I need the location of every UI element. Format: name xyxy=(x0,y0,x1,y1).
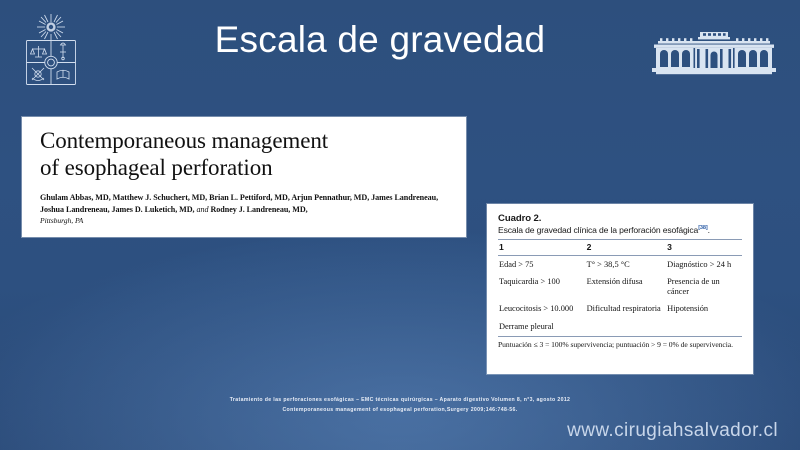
table-caption-text: Escala de gravedad clínica de la perfora… xyxy=(498,225,698,235)
paper-title-line-1: Contemporaneous management xyxy=(40,127,452,154)
citation-line-1: Tratamiento de las perforaciones esofági… xyxy=(0,396,800,406)
table-row: Leucocitosis > 10.000 Dificultad respira… xyxy=(498,301,742,318)
table-caption-period: . xyxy=(708,225,710,235)
paper-authors: Ghulam Abbas, MD, Matthew J. Schuchert, … xyxy=(40,192,452,215)
paper-title-line-2: of esophageal perforation xyxy=(40,154,452,181)
paper-affiliation: Pittsburgh, PA xyxy=(40,216,452,225)
cell-r1c3: Diagnóstico > 24 h xyxy=(666,256,742,274)
cell-r4c3 xyxy=(666,318,742,336)
cell-r1c2: T° > 38,5 °C xyxy=(586,256,667,274)
cell-r3c3: Hipotensión xyxy=(666,301,742,318)
cell-r3c2: Dificultad respiratoria xyxy=(586,301,667,318)
cell-r2c2: Extensión difusa xyxy=(586,273,667,301)
cell-r2c3: Presencia de un cáncer xyxy=(666,273,742,301)
paper-authors-and: and xyxy=(197,205,209,214)
universidad-de-chile-shield-icon xyxy=(20,12,82,88)
cell-r2c1: Taquicardia > 100 xyxy=(498,273,586,301)
website-url: www.cirugiahsalvador.cl xyxy=(567,420,778,442)
cell-r4c1: Derrame pleural xyxy=(498,318,586,336)
page-title: Escala de gravedad xyxy=(120,20,640,61)
column-header-1: 1 xyxy=(498,240,586,256)
table-label: Cuadro 2. xyxy=(498,213,742,224)
table-caption: Escala de gravedad clínica de la perfora… xyxy=(498,225,742,235)
table-footnote: Puntuación ≤ 3 = 100% supervivencia; pun… xyxy=(498,337,742,349)
citation-line-2: Contemporaneous management of esophageal… xyxy=(0,406,800,416)
table-row: Edad > 75 T° > 38,5 °C Diagnóstico > 24 … xyxy=(498,256,742,274)
cell-r3c1: Leucocitosis > 10.000 xyxy=(498,301,586,318)
paper-screenshot-card: Contemporaneous management of esophageal… xyxy=(22,117,466,237)
column-header-2: 2 xyxy=(586,240,667,256)
table-header-row: 1 2 3 xyxy=(498,240,742,256)
table-caption-reference: [38] xyxy=(698,225,707,231)
cell-r4c2 xyxy=(586,318,667,336)
paper-title: Contemporaneous management of esophageal… xyxy=(40,127,452,181)
severity-scale-table: 1 2 3 Edad > 75 T° > 38,5 °C Diagnóstico… xyxy=(498,239,742,337)
severity-scale-table-card: Cuadro 2. Escala de gravedad clínica de … xyxy=(487,204,753,374)
cell-r1c1: Edad > 75 xyxy=(498,256,586,274)
paper-authors-part2: Rodney J. Landreneau, MD, xyxy=(211,205,308,214)
hospital-building-icon xyxy=(650,30,778,76)
column-header-3: 3 xyxy=(666,240,742,256)
citation-block: Tratamiento de las perforaciones esofági… xyxy=(0,396,800,415)
table-row: Derrame pleural xyxy=(498,318,742,336)
table-row: Taquicardia > 100 Extensión difusa Prese… xyxy=(498,273,742,301)
slide-canvas: Escala de gravedad xyxy=(0,0,800,450)
